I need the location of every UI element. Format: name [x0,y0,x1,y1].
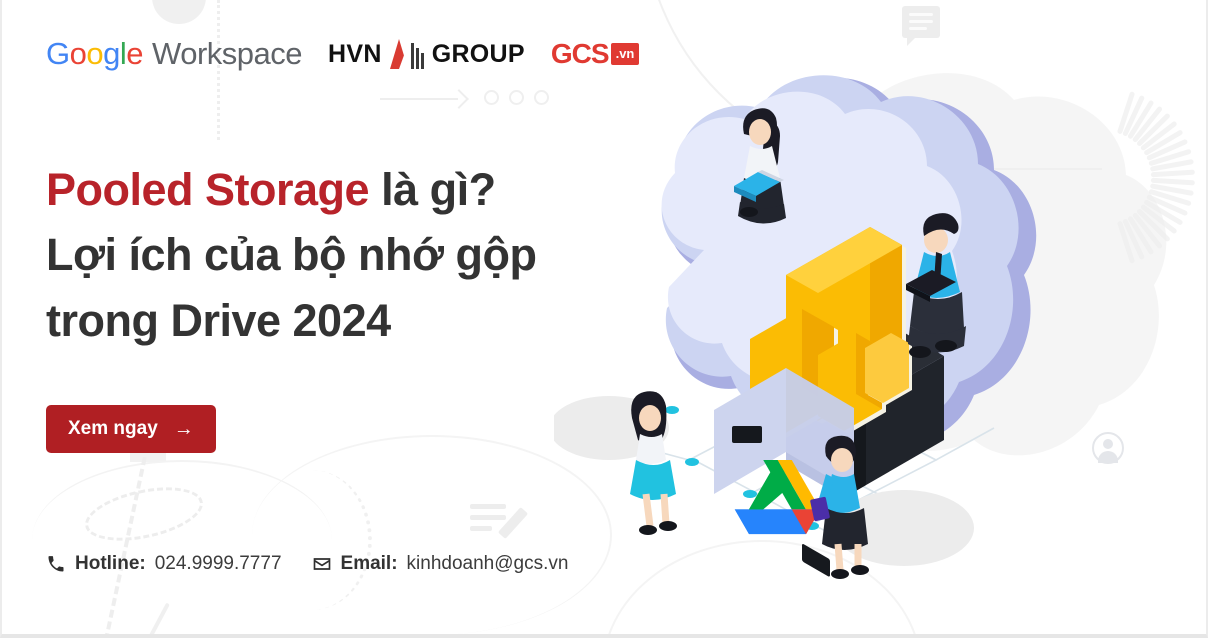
hero-banner: GoogleWorkspace HVN GROUP GCS .vn Pooled… [0,0,1208,638]
hvn-group-logo: HVN GROUP [328,39,525,69]
hotline-label: Hotline: [75,553,146,575]
diagonal-dash-decoration [138,603,170,638]
google-letter-e: e [126,36,143,71]
google-letter-o2: o [86,36,103,71]
contact-bar: Hotline: 024.9999.7777 Email: kinhdoanh@… [46,553,568,575]
dashed-diagonal-decoration [101,457,146,638]
headline-line-1: Pooled Storage là gì? [46,157,536,222]
gcs-tld-badge: .vn [611,43,640,65]
google-workspace-logo: GoogleWorkspace [46,36,302,72]
google-letter-g2: g [103,36,120,71]
dot-3 [534,90,549,105]
google-letter-o1: o [70,36,87,71]
dot-1 [484,90,499,105]
gcs-logo: GCS .vn [551,38,639,70]
hotline-value: 024.9999.7777 [155,553,282,575]
chat-bubble-icon [902,6,940,38]
page-title: Pooled Storage là gì? Lợi ích của bộ nhớ… [46,157,536,353]
cloud-storage-illustration [554,60,1194,620]
phone-icon [46,554,66,574]
email-label: Email: [341,553,398,575]
dot-2 [509,90,524,105]
swoosh-line-decoration [32,460,332,540]
compose-edit-icon [470,500,516,542]
cta-label: Xem ngay [68,418,158,440]
gcs-wordmark: GCS [551,38,609,70]
arrow-right-icon: → [174,419,194,439]
headline-accent-text: Pooled Storage [46,164,369,215]
headline-line-3: trong Drive 2024 [46,288,536,353]
hvn-prefix-text: HVN [328,40,382,69]
long-arrow-right-icon [380,90,466,108]
brand-logo-row: GoogleWorkspace HVN GROUP GCS .vn [46,36,639,72]
headline-line-2: Lợi ích của bộ nhớ gộp [46,222,536,287]
dashed-ellipse-decoration [80,478,207,550]
email-contact[interactable]: Email: kinhdoanh@gcs.vn [312,553,569,575]
three-dots-decoration [484,90,549,105]
dotted-curve-decoration [252,470,372,610]
hotline-contact[interactable]: Hotline: 024.9999.7777 [46,553,282,575]
hvn-suffix-text: GROUP [432,40,525,69]
view-now-button[interactable]: Xem ngay → [46,405,216,453]
email-value: kinhdoanh@gcs.vn [407,553,569,575]
headline-line-1-rest: là gì? [369,164,496,215]
gray-blob-decoration [152,0,206,24]
workspace-wordmark: Workspace [152,36,302,71]
envelope-icon [312,554,332,574]
google-letter-g1: G [46,36,70,71]
hvn-chevron-icon [390,39,424,69]
